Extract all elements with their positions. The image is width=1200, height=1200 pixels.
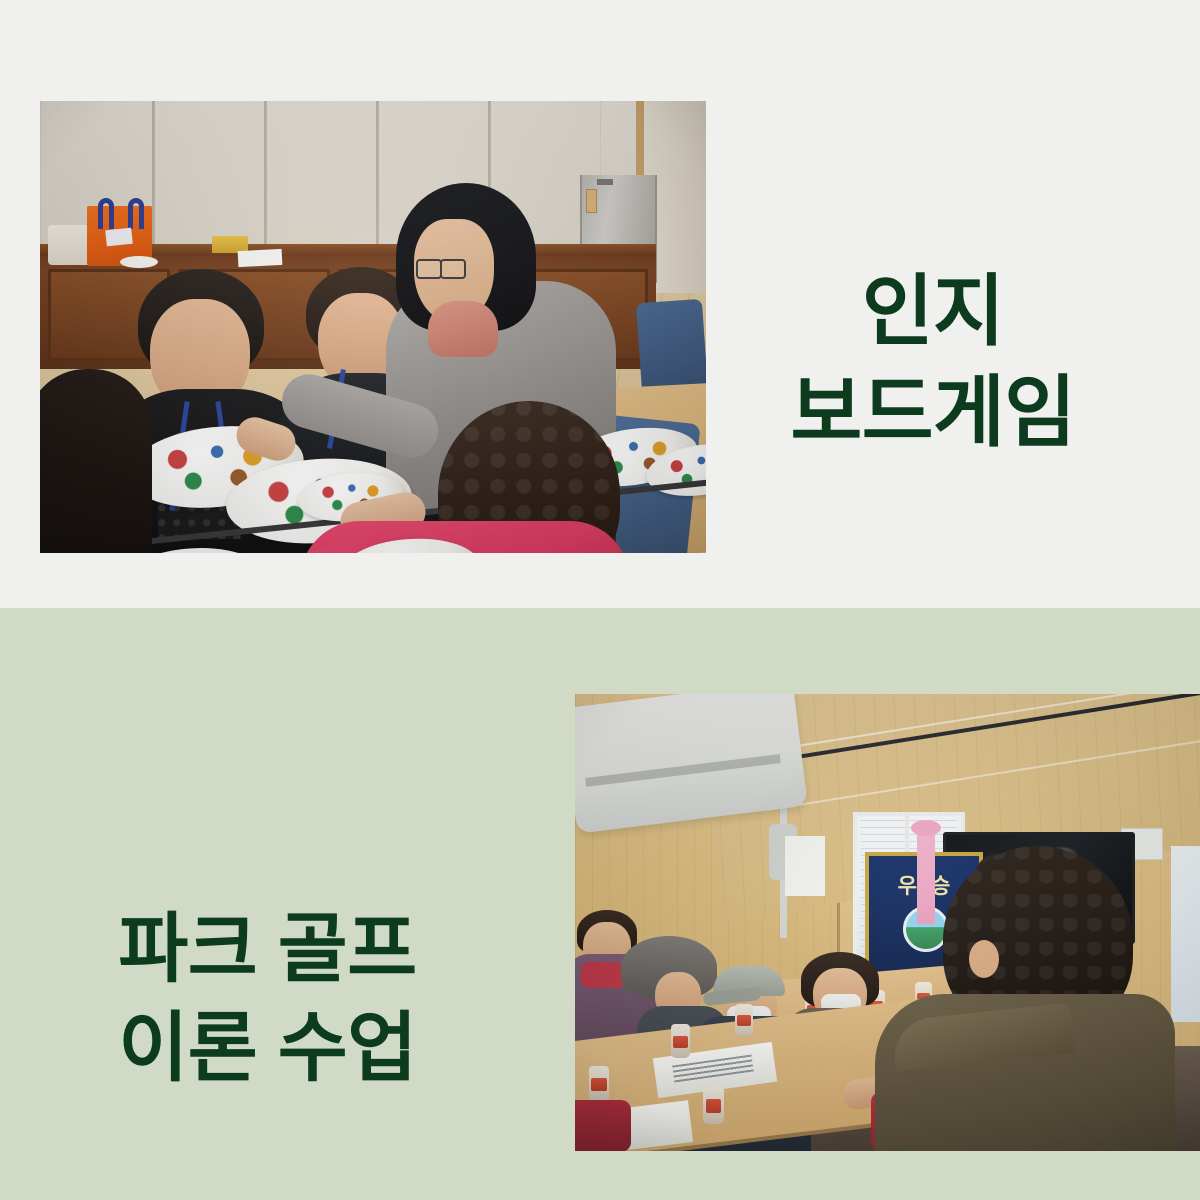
p2-drink-can <box>735 1004 753 1036</box>
p1-paper-plate <box>120 256 158 268</box>
p2-banner-ribbon <box>917 826 935 924</box>
photo-cognitive-boardgame <box>40 101 706 553</box>
photo-park-golf-lecture: 우승 <box>575 694 1200 1151</box>
p1-paper-sheet <box>238 249 283 267</box>
p1-elevator-button-panel <box>586 189 597 213</box>
p1-bag-handle-left <box>98 198 114 229</box>
p1-instructor-scarf <box>428 301 498 357</box>
p2-red-chair-left <box>575 1100 631 1151</box>
p1-elevator-sign <box>597 179 613 185</box>
p1-foreground-head <box>40 369 152 553</box>
p2-banner-ribbon-bow <box>911 820 941 836</box>
p1-instructor-glasses-left <box>416 259 442 279</box>
p1-white-tote-bag <box>48 225 92 265</box>
p2-drink-can <box>703 1086 724 1124</box>
p1-bag-label <box>105 228 133 247</box>
p1-bag-handle-right <box>128 198 144 229</box>
p1-instructor-glasses-right <box>440 259 466 279</box>
p2-drink-can <box>671 1024 690 1058</box>
section-bottom: 파크 골프 이론 수업 우승 <box>0 608 1200 1200</box>
p2-attendee-1-scarf <box>581 962 625 988</box>
p2-foreground-attendee-ear <box>969 940 999 978</box>
p2-wall-poster <box>785 836 825 896</box>
p2-drink-can <box>589 1066 609 1102</box>
poster-canvas: 인지 보드게임 파크 골프 이론 수업 <box>0 0 1200 1200</box>
section-top: 인지 보드게임 <box>0 0 1200 608</box>
caption-park-golf-theory: 파크 골프 이론 수업 <box>0 901 535 1099</box>
caption-cognitive-boardgame: 인지 보드게임 <box>666 261 1200 464</box>
p2-window-right <box>1171 846 1200 1022</box>
